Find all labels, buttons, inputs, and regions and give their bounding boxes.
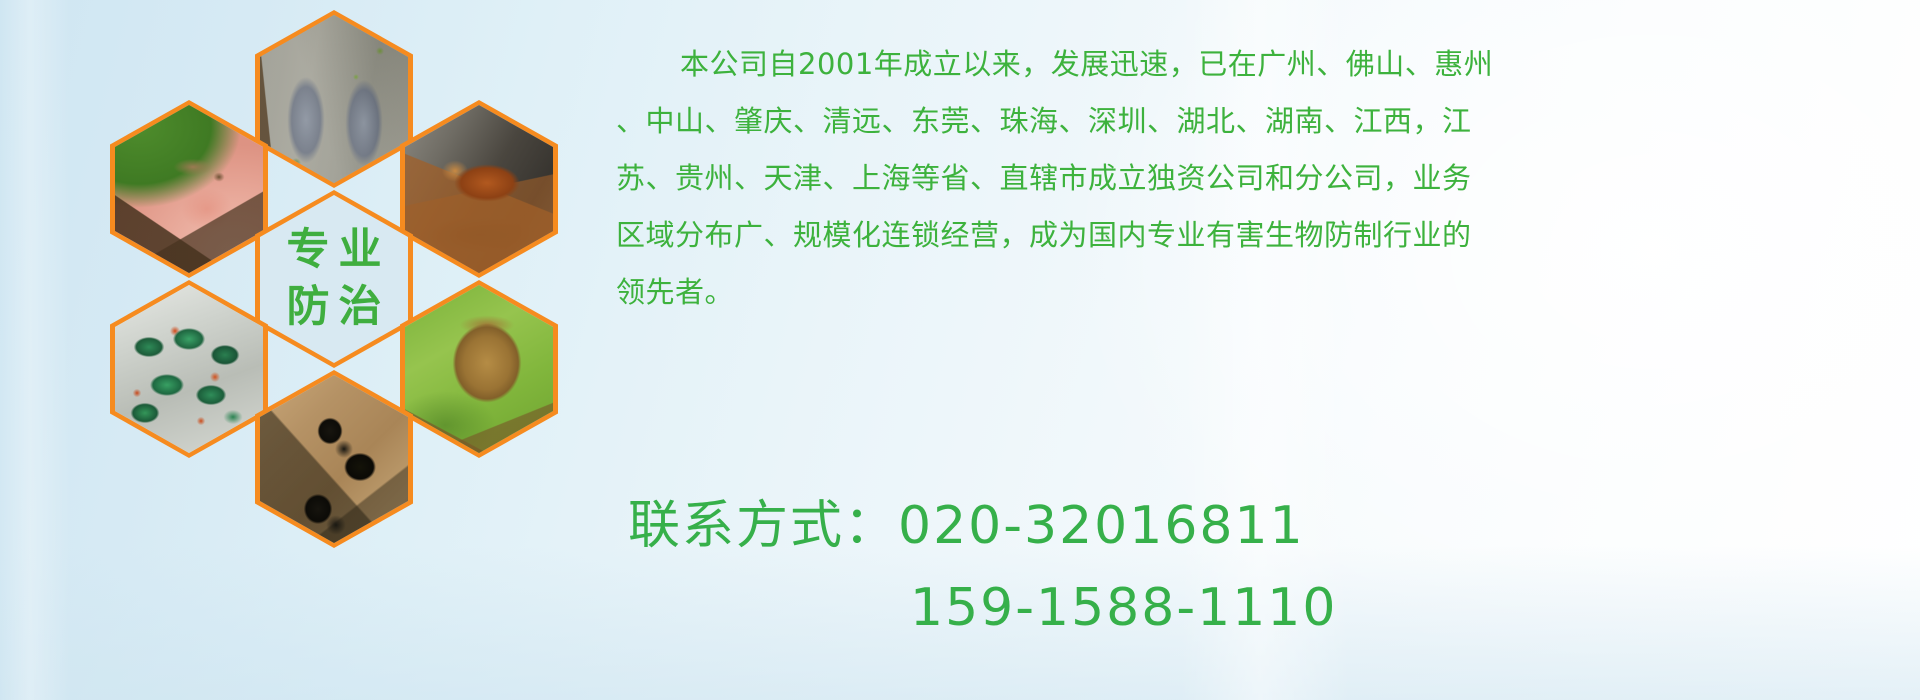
hex-inner [115, 105, 263, 273]
hex-inner [405, 285, 553, 453]
center-slogan: 专业 防治 [260, 195, 408, 363]
banner-content: 本公司自2001年成立以来，发展迅速，已在广州、佛山、惠州 、中山、肇庆、清远、… [608, 0, 1920, 700]
slogan-line-1: 专业 [278, 229, 391, 272]
honeycomb-image-cluster: 专业 防治 [88, 8, 588, 553]
hex-cell-mosquito[interactable] [110, 100, 268, 278]
hex-inner: 专业 防治 [260, 195, 408, 363]
contact-phone-mobile[interactable]: 159-1588-1110 [618, 567, 1908, 649]
hex-cell-rats[interactable] [255, 10, 413, 188]
mosquito-photo [115, 105, 263, 273]
hex-inner [260, 375, 408, 543]
hex-cell-center-label: 专业 防治 [255, 190, 413, 368]
contact-phone-primary[interactable]: 联系方式：020-32016811 [618, 485, 1908, 567]
ant-photo [260, 375, 408, 543]
slogan-line-2: 防治 [278, 286, 391, 329]
hex-cell-stinkbug[interactable] [400, 280, 558, 458]
rodent-photo [260, 15, 408, 183]
hex-cell-ant[interactable] [255, 370, 413, 548]
cockroach-photo [405, 105, 553, 273]
hex-inner [405, 105, 553, 273]
hex-inner [115, 285, 263, 453]
hex-cell-cockroach[interactable] [400, 100, 558, 278]
hex-inner [260, 15, 408, 183]
flies-photo [115, 285, 263, 453]
promo-banner: 专业 防治 本公司自2001年成立以来，发展迅速，已在广州、佛山、惠州 、中山、… [0, 0, 1920, 700]
hex-cell-flies[interactable] [110, 280, 268, 458]
company-description-paragraph: 本公司自2001年成立以来，发展迅速，已在广州、佛山、惠州 、中山、肇庆、清远、… [616, 36, 1916, 321]
stinkbug-photo [405, 285, 553, 453]
contact-block: 联系方式：020-32016811 159-1588-1110 [618, 485, 1908, 649]
